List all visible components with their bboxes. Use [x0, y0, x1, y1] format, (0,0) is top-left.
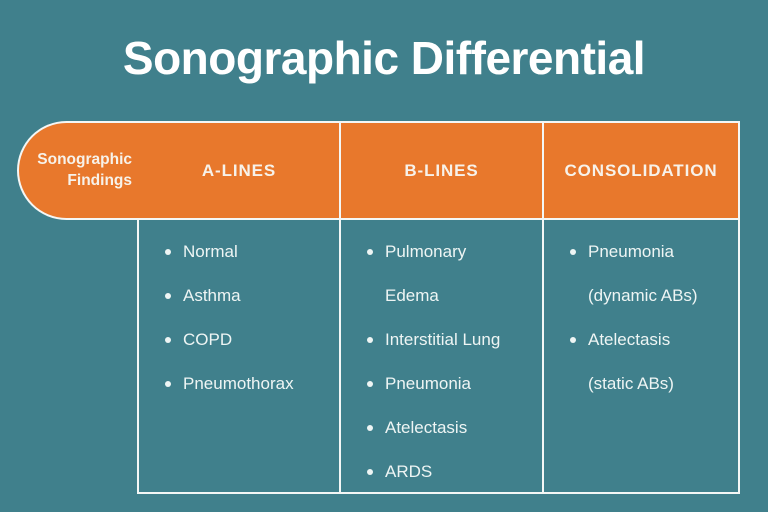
column-header-a-lines: A-LINES — [137, 121, 339, 220]
table-body-row: Normal Asthma COPD Pneumothorax — [137, 220, 740, 494]
column-header-b-lines: B-LINES — [339, 121, 542, 220]
bullet-icon — [165, 337, 171, 343]
column-header-label: B-LINES — [404, 161, 478, 181]
list-item: Atelectasis (static ABs) — [544, 318, 738, 406]
list-item-label: Pneumothorax — [183, 374, 294, 393]
row-header-line-2: Findings — [67, 171, 132, 191]
bullet-icon — [367, 337, 373, 343]
list-item-label-continued: Edema — [385, 274, 542, 318]
list-item: Asthma — [139, 274, 339, 318]
list-item-label: Pulmonary — [385, 242, 466, 261]
list-item: Atelectasis — [341, 406, 542, 450]
column-cell-b-lines: Pulmonary Edema Interstitial Lung Pneumo… — [339, 220, 542, 494]
bullet-icon — [570, 249, 576, 255]
list-item-label-continued: (static ABs) — [588, 362, 738, 406]
list-item-label: Atelectasis — [385, 418, 467, 437]
row-header-sonographic-findings: Sonographic Findings — [17, 121, 139, 220]
list-item: Normal — [139, 230, 339, 274]
bullet-icon — [165, 293, 171, 299]
table-header-row: Sonographic Findings A-LINES B-LINES CON… — [137, 121, 740, 220]
item-list-b-lines: Pulmonary Edema Interstitial Lung Pneumo… — [341, 230, 542, 494]
list-item-label: Asthma — [183, 286, 241, 305]
differential-table: Sonographic Findings A-LINES B-LINES CON… — [137, 121, 740, 494]
item-list-consolidation: Pneumonia (dynamic ABs) Atelectasis (sta… — [544, 230, 738, 406]
list-item-label: Interstitial Lung — [385, 330, 500, 349]
bullet-icon — [165, 249, 171, 255]
list-item: Interstitial Lung — [341, 318, 542, 362]
column-cell-consolidation: Pneumonia (dynamic ABs) Atelectasis (sta… — [542, 220, 740, 494]
column-header-label: CONSOLIDATION — [564, 161, 717, 181]
row-header-line-1: Sonographic — [37, 150, 132, 170]
list-item-label: Pneumonia — [588, 242, 674, 261]
list-item: ARDS — [341, 450, 542, 494]
bullet-icon — [570, 337, 576, 343]
list-item-label: Normal — [183, 242, 238, 261]
list-item: COPD — [139, 318, 339, 362]
column-header-label: A-LINES — [202, 161, 276, 181]
list-item: Pneumonia (dynamic ABs) — [544, 230, 738, 318]
page-title: Sonographic Differential — [0, 34, 768, 82]
list-item-label: COPD — [183, 330, 232, 349]
list-item-label: Pneumonia — [385, 374, 471, 393]
list-item: Pulmonary Edema — [341, 230, 542, 318]
bullet-icon — [367, 381, 373, 387]
column-cell-a-lines: Normal Asthma COPD Pneumothorax — [137, 220, 339, 494]
list-item: Pneumothorax — [139, 362, 339, 406]
list-item-label: Atelectasis — [588, 330, 670, 349]
column-header-consolidation: CONSOLIDATION — [542, 121, 740, 220]
list-item: Pneumonia — [341, 362, 542, 406]
item-list-a-lines: Normal Asthma COPD Pneumothorax — [139, 230, 339, 406]
list-item-label-continued: (dynamic ABs) — [588, 274, 738, 318]
bullet-icon — [367, 249, 373, 255]
list-item-label: ARDS — [385, 462, 432, 481]
bullet-icon — [165, 381, 171, 387]
bullet-icon — [367, 425, 373, 431]
bullet-icon — [367, 469, 373, 475]
